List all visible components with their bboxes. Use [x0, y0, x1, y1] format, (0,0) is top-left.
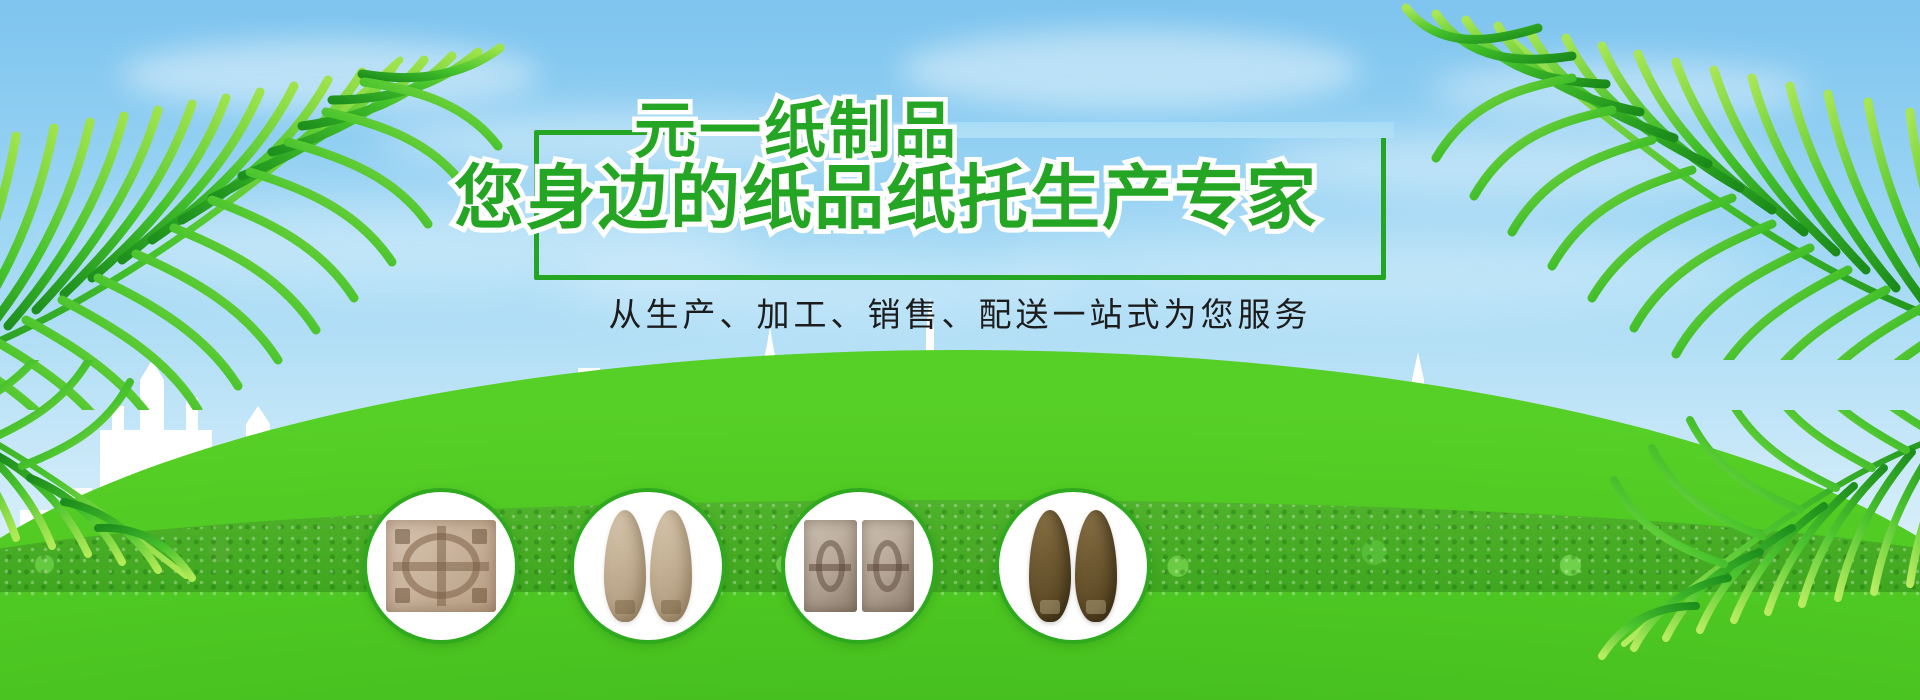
product-image-pulp-molded-square-tray — [386, 520, 496, 612]
product-circle-paper-pulp-shoe-tree-dark[interactable] — [995, 488, 1151, 644]
twin-tray-shape — [804, 520, 914, 612]
shoe-tree-shape — [604, 510, 646, 622]
cloud-shape — [120, 40, 540, 110]
shoe-tree-heel — [615, 600, 635, 614]
product-circle-paper-pulp-shoe-tree-light[interactable] — [570, 488, 726, 644]
headline-frame: 元一纸制品 您身边的纸品纸托生产专家 — [534, 130, 1386, 280]
product-showcase — [0, 440, 1920, 700]
twin-tray-half — [862, 520, 914, 612]
subtitle-text: 从生产、加工、销售、配送一站式为您服务 — [534, 288, 1386, 336]
product-image-pulp-molded-twin-tray — [804, 520, 914, 612]
product-circle-pulp-molded-twin-tray[interactable] — [781, 488, 937, 644]
shoe-tree-heel — [1040, 600, 1060, 614]
tray-nub — [472, 529, 487, 544]
tray-rib — [393, 562, 489, 571]
product-circle-pulp-molded-square-tray[interactable] — [363, 488, 519, 644]
promo-banner: 元一纸制品 您身边的纸品纸托生产专家 从生产、加工、销售、配送一站式为您服务 — [0, 0, 1920, 700]
shoe-tree-heel — [661, 600, 681, 614]
tray-nub — [472, 588, 487, 603]
cloud-shape — [1430, 60, 1810, 120]
tray-nub — [395, 588, 410, 603]
pulp-tray-shape — [386, 520, 496, 612]
headline-text: 您身边的纸品纸托生产专家 — [454, 142, 1474, 243]
product-image-paper-pulp-shoe-tree-dark — [1018, 520, 1128, 612]
twin-tray-half — [804, 520, 856, 612]
tray-nub — [395, 529, 410, 544]
shoe-tree-shape — [1029, 510, 1071, 622]
shoe-tree-heel — [1086, 600, 1106, 614]
shoe-tree-shape — [1075, 510, 1117, 622]
product-image-paper-pulp-shoe-tree-light — [593, 520, 703, 612]
shoe-tree-shape — [650, 510, 692, 622]
